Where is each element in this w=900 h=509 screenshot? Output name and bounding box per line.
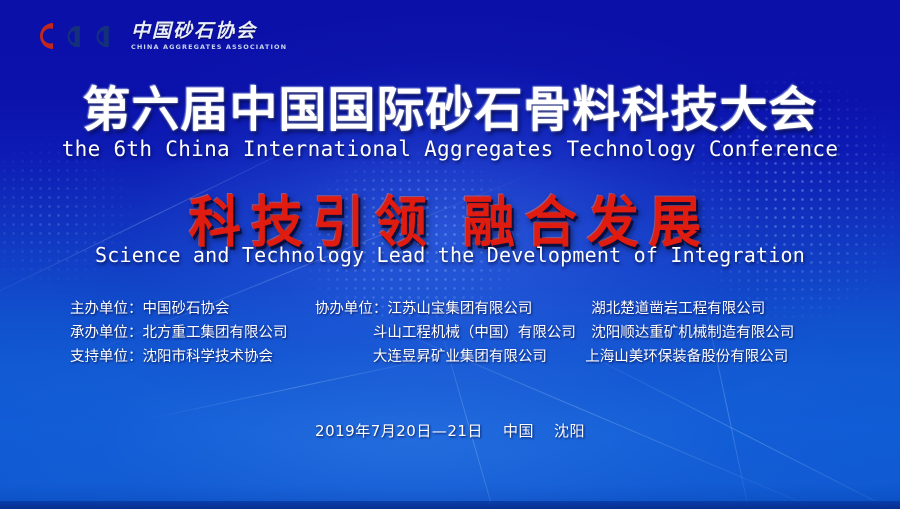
organizers-column-1: 主办单位：中国砂石协会 承办单位：北方重工集团有限公司 支持单位：沈阳市科学技术…: [70, 297, 315, 369]
caa-logo-cn-name: 中国砂石协会: [131, 22, 287, 41]
bottom-band: [0, 501, 900, 509]
caa-logo: 中国砂石协会 CHINA AGGREGATES ASSOCIATION: [33, 19, 287, 53]
organizer-line: 斗山工程机械（中国）有限公司: [315, 321, 585, 345]
organizers-block: 主办单位：中国砂石协会 承办单位：北方重工集团有限公司 支持单位：沈阳市科学技术…: [70, 297, 840, 369]
organizer-line: 湖北楚道凿岩工程有限公司: [585, 297, 840, 321]
organizers-column-2: 协办单位：江苏山宝集团有限公司 斗山工程机械（中国）有限公司 大连昱昇矿业集团有…: [315, 297, 585, 369]
caa-logo-en-name: CHINA AGGREGATES ASSOCIATION: [131, 44, 287, 51]
slogan-en: Science and Technology Lead the Developm…: [0, 243, 900, 267]
organizer-line: 沈阳顺达重矿机械制造有限公司: [585, 321, 840, 345]
event-city: 沈阳: [554, 422, 585, 440]
organizer-line: 支持单位：沈阳市科学技术协会: [70, 345, 315, 369]
caa-logo-mark-icon: [33, 19, 125, 53]
event-date-location: 2019年7月20日—21日中国沈阳: [0, 420, 900, 441]
event-country: 中国: [503, 422, 534, 440]
organizer-line: 大连昱昇矿业集团有限公司: [315, 345, 585, 369]
conference-title-en: the 6th China International Aggregates T…: [0, 137, 900, 161]
caa-logo-text: 中国砂石协会 CHINA AGGREGATES ASSOCIATION: [131, 22, 287, 51]
organizer-line: 协办单位：江苏山宝集团有限公司: [315, 297, 585, 321]
organizer-line: 上海山美环保装备股份有限公司: [585, 345, 840, 369]
organizer-line: 主办单位：中国砂石协会: [70, 297, 315, 321]
conference-poster: 中国砂石协会 CHINA AGGREGATES ASSOCIATION 第六届中…: [0, 0, 900, 509]
organizers-column-3: 湖北楚道凿岩工程有限公司 沈阳顺达重矿机械制造有限公司 上海山美环保装备股份有限…: [585, 297, 840, 369]
conference-title-cn: 第六届中国国际砂石骨料科技大会: [0, 70, 900, 140]
event-date: 2019年7月20日—21日: [315, 422, 483, 440]
organizer-line: 承办单位：北方重工集团有限公司: [70, 321, 315, 345]
